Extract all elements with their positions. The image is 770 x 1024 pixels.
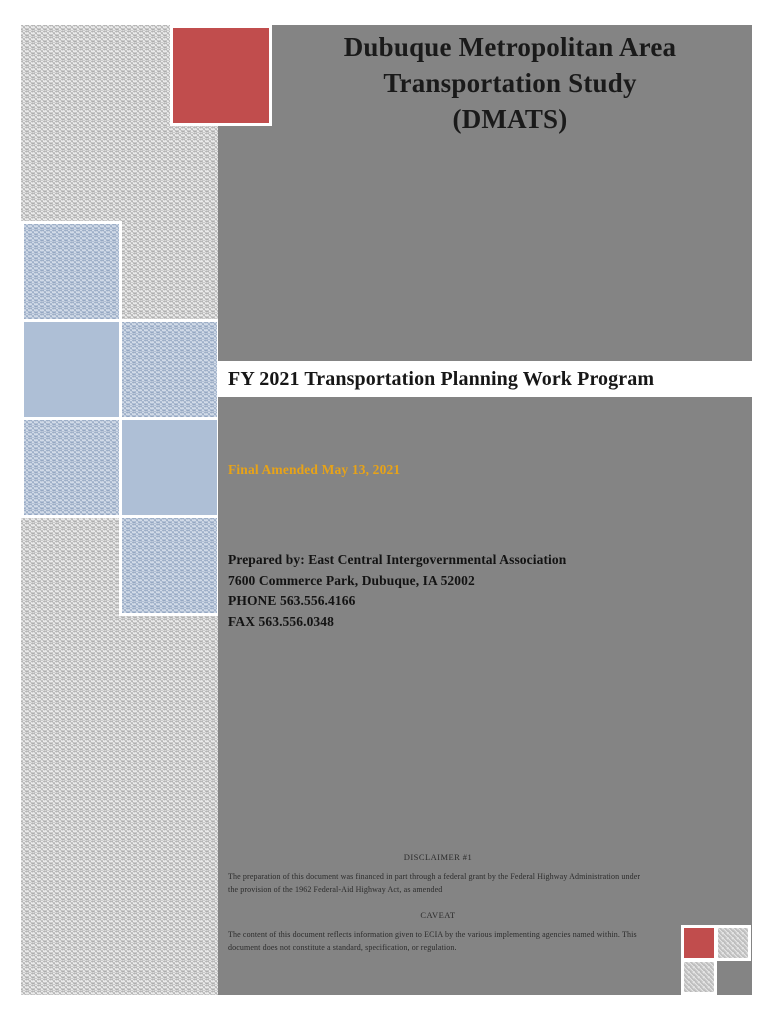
title-line-3: (DMATS) xyxy=(280,102,740,138)
main-gray-panel xyxy=(218,25,752,995)
blue-square-3 xyxy=(119,319,220,420)
motif-red-square xyxy=(681,925,717,961)
motif-gray-square-top-right xyxy=(715,925,751,961)
red-accent-square xyxy=(170,25,272,126)
caveat-body: The content of this document reflects in… xyxy=(228,929,648,954)
blue-square-6 xyxy=(119,515,220,616)
prepared-by-address: 7600 Commerce Park, Dubuque, IA 52002 xyxy=(228,571,566,592)
document-cover-page: Dubuque Metropolitan Area Transportation… xyxy=(0,0,770,1024)
motif-gray-square-bottom-left xyxy=(681,959,717,995)
blue-square-5 xyxy=(119,417,220,518)
prepared-by-organization: Prepared by: East Central Intergovernmen… xyxy=(228,550,566,571)
caveat-heading: CAVEAT xyxy=(228,910,648,920)
document-title: Dubuque Metropolitan Area Transportation… xyxy=(280,30,740,138)
title-line-1: Dubuque Metropolitan Area xyxy=(280,30,740,66)
blue-square-1 xyxy=(21,221,122,322)
prepared-by-block: Prepared by: East Central Intergovernmen… xyxy=(228,550,566,632)
subtitle-band: FY 2021 Transportation Planning Work Pro… xyxy=(218,361,752,397)
disclaimer-heading: DISCLAIMER #1 xyxy=(228,852,648,862)
blue-square-2 xyxy=(21,319,122,420)
legal-notices: DISCLAIMER #1 The preparation of this do… xyxy=(228,852,648,955)
disclaimer-body: The preparation of this document was fin… xyxy=(228,871,648,896)
subtitle-text: FY 2021 Transportation Planning Work Pro… xyxy=(218,368,654,391)
blue-square-4 xyxy=(21,417,122,518)
title-line-2: Transportation Study xyxy=(280,66,740,102)
amended-date-text: Final Amended May 13, 2021 xyxy=(228,462,400,478)
bottom-right-motif xyxy=(681,925,751,995)
prepared-by-fax: FAX 563.556.0348 xyxy=(228,612,566,633)
prepared-by-phone: PHONE 563.556.4166 xyxy=(228,591,566,612)
